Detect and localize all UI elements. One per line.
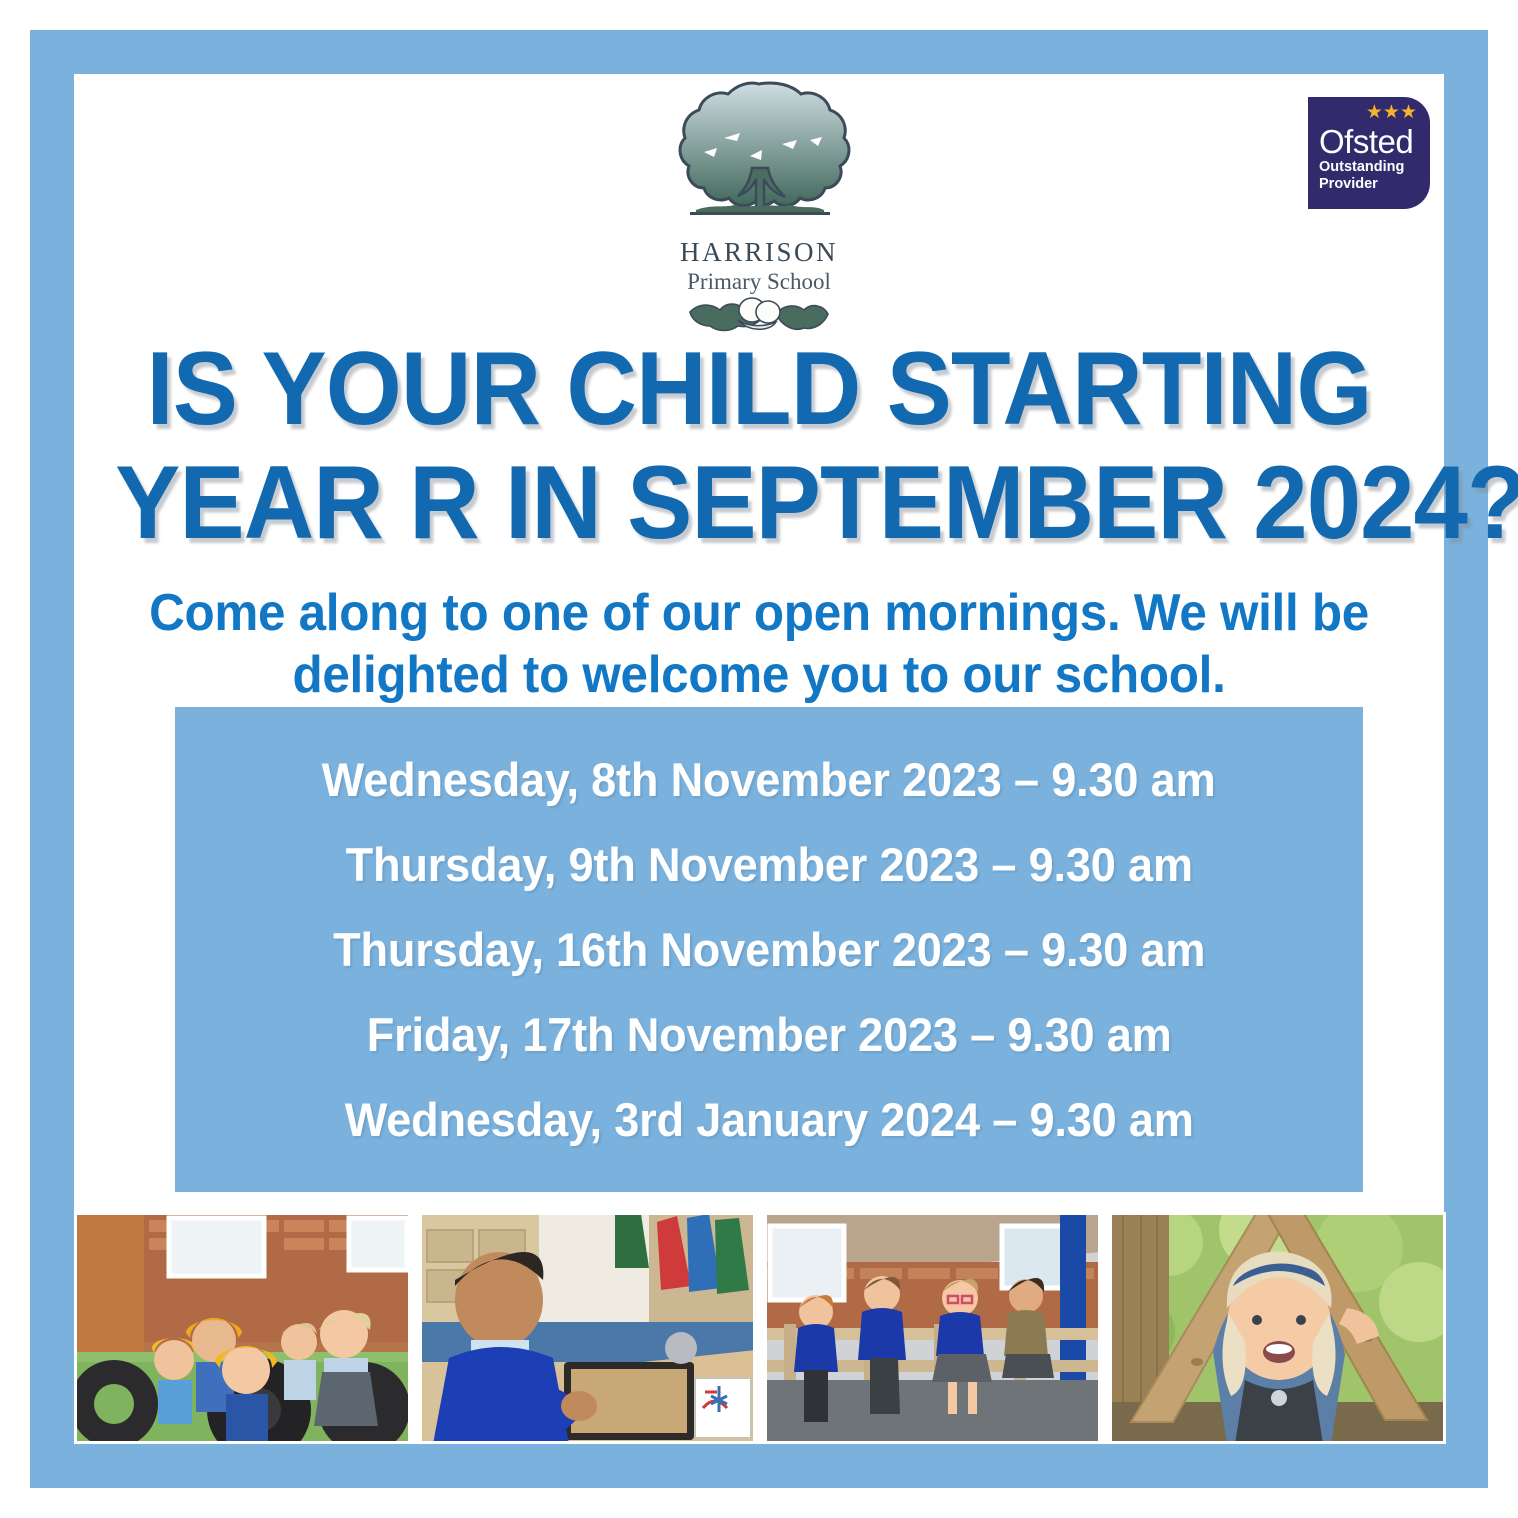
oak-leaves-acorns-icon [664,294,854,336]
ofsted-wordmark: Ofsted [1319,125,1421,159]
poster-root: HARRISON Primary School ★★★ Ofsted Outst… [0,0,1518,1518]
ofsted-badge: ★★★ Ofsted Outstanding Provider [1308,97,1430,209]
date-row: Thursday, 16th November 2023 – 9.30 am [333,921,1205,978]
photo-girl-wooden-climbing-frame [1109,1212,1446,1444]
subtitle-line-1: Come along to one of our open mornings. … [120,582,1399,644]
school-logo: HARRISON Primary School [659,80,859,325]
photo-children-jumping-deck [764,1212,1101,1444]
page-title: IS YOUR CHILD STARTING YEAR R IN SEPTEMB… [115,332,1403,560]
ofsted-rating-line-1: Outstanding [1319,159,1421,176]
oak-tree-icon [664,80,854,245]
photo-boy-sand-tray-classroom [419,1212,756,1444]
date-row: Wednesday, 3rd January 2024 – 9.30 am [345,1091,1194,1148]
subtitle-line-2: delighted to welcome you to our school. [120,644,1399,706]
photo-children-tyres-playground [74,1212,411,1444]
open-morning-dates-panel: Wednesday, 8th November 2023 – 9.30 am T… [175,707,1363,1192]
ofsted-stars-icon: ★★★ [1319,103,1421,125]
date-row: Wednesday, 8th November 2023 – 9.30 am [322,751,1216,808]
school-name: HARRISON [659,239,859,266]
headline-line-2: YEAR R IN SEPTEMBER 2024? [115,446,1403,560]
date-row: Friday, 17th November 2023 – 9.30 am [367,1006,1172,1063]
date-row: Thursday, 9th November 2023 – 9.30 am [345,836,1192,893]
poster-header: HARRISON Primary School ★★★ Ofsted Outst… [74,74,1444,329]
page-subtitle: Come along to one of our open mornings. … [120,582,1399,706]
headline-line-1: IS YOUR CHILD STARTING [115,332,1403,446]
photo-strip [74,1212,1444,1444]
poster-content-canvas: HARRISON Primary School ★★★ Ofsted Outst… [74,74,1444,1444]
ofsted-rating-line-2: Provider [1319,176,1421,193]
school-type: Primary School [659,268,859,296]
